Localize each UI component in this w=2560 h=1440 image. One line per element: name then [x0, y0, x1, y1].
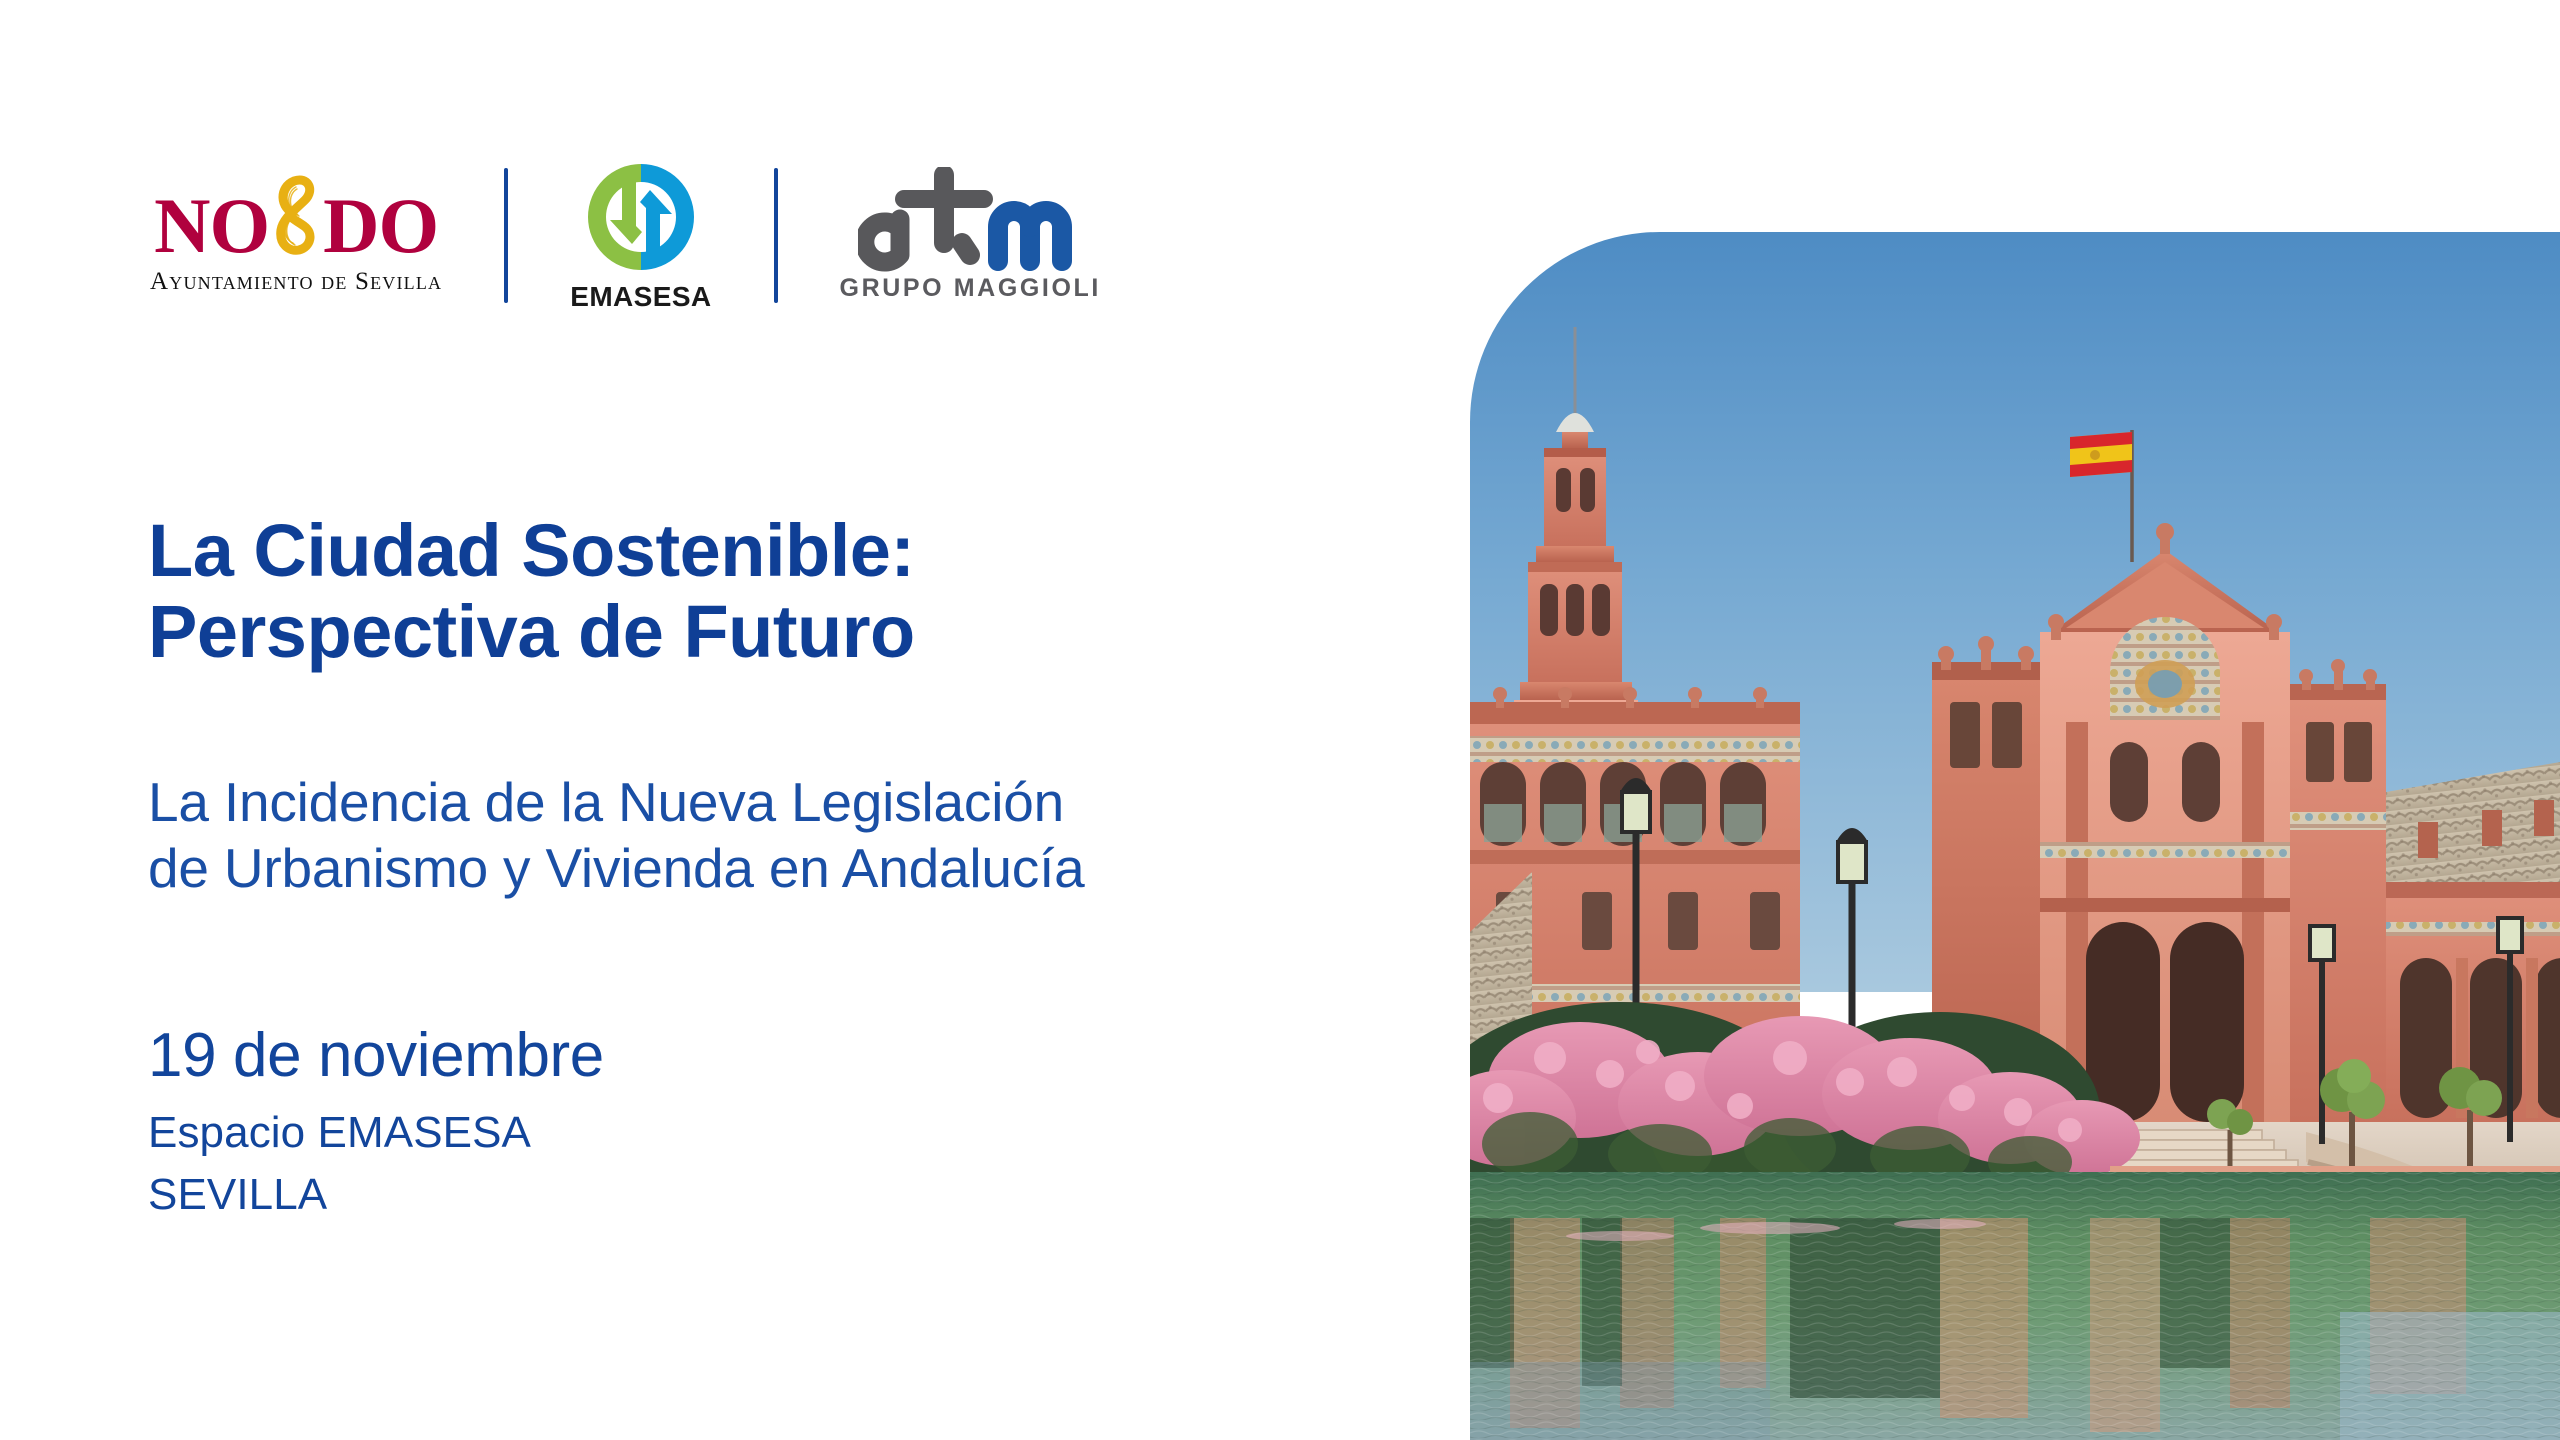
nosdo-text-do: DO	[323, 194, 438, 258]
partner-logo-bar: NO DO Ayuntamiento de Sevilla	[150, 140, 1101, 330]
atm-tagline: GRUPO MAGGIOLI	[840, 274, 1101, 303]
event-text-block: La Ciudad Sostenible: Perspectiva de Fut…	[148, 510, 1418, 1221]
ayuntamiento-tagline: Ayuntamiento de Sevilla	[150, 268, 442, 296]
nosdo-wordmark: NO DO	[154, 174, 438, 258]
nosdo-madeja-icon	[270, 174, 322, 256]
atm-logotype-icon	[858, 167, 1083, 272]
plaza-de-espana-sevilla-photo	[1470, 232, 2560, 1440]
page-title: La Ciudad Sostenible: Perspectiva de Fut…	[148, 510, 1418, 673]
plaza-de-espana-illustration	[1470, 232, 2560, 1440]
nosdo-text-no: NO	[154, 194, 269, 258]
logo-ayuntamiento-sevilla: NO DO Ayuntamiento de Sevilla	[150, 174, 442, 296]
emasesa-recycle-circle-icon	[582, 158, 700, 276]
event-subtitle: La Incidencia de la Nueva Legislación de…	[148, 769, 1418, 901]
logo-atm-grupo-maggioli: GRUPO MAGGIOLI	[840, 167, 1101, 303]
emasesa-wordmark: EMASESA	[570, 281, 711, 313]
event-date: 19 de noviembre	[148, 1023, 1418, 1088]
event-city: SEVILLA	[148, 1168, 1418, 1222]
logo-emasesa: EMASESA	[570, 158, 711, 313]
logo-divider-2	[774, 168, 778, 303]
event-venue: Espacio EMASESA	[148, 1106, 1418, 1160]
logo-divider-1	[504, 168, 508, 303]
canal-water	[1470, 1172, 2560, 1440]
